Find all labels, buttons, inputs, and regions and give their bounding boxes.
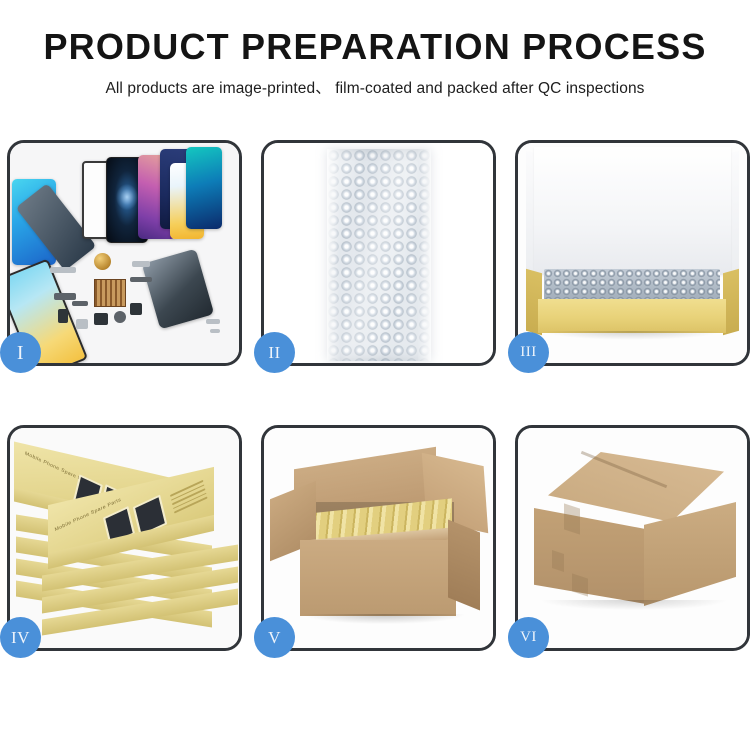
process-step-3: III	[515, 140, 750, 366]
carton-tape-icon	[564, 503, 580, 534]
process-step-4: Mobile Phone Spare Parts Mobile Phone Sp…	[7, 425, 242, 651]
header: PRODUCT PREPARATION PROCESS All products…	[0, 0, 750, 98]
repair-part-icon	[132, 261, 150, 267]
phone-back-housing-icon	[142, 249, 215, 330]
box-shadow	[542, 331, 722, 340]
step-2-image	[264, 143, 493, 363]
repair-part-icon	[130, 277, 152, 282]
carton-shadow	[542, 600, 726, 610]
repair-part-icon	[76, 319, 88, 329]
carton-left-panel	[534, 508, 646, 604]
product-preparation-infographic: PRODUCT PREPARATION PROCESS All products…	[0, 0, 750, 750]
repair-part-icon	[58, 309, 68, 323]
carton-shadow	[304, 614, 464, 624]
step-3-badge: III	[508, 332, 549, 373]
bubble-wrap-edge	[418, 149, 431, 361]
carton-tape-icon	[552, 550, 564, 572]
process-step-6: VI	[515, 425, 750, 651]
box-stack-icon: Mobile Phone Spare Parts Mobile Phone Sp…	[14, 446, 239, 636]
box-front-panel	[538, 299, 726, 333]
process-step-2: II	[261, 140, 496, 366]
step-2-badge: II	[254, 332, 295, 373]
speaker-module-icon	[94, 253, 111, 270]
repair-part-icon	[130, 303, 142, 315]
repair-part-icon	[50, 267, 76, 273]
step-1-image	[10, 143, 239, 363]
process-step-5: V	[261, 425, 496, 651]
screw-icon	[206, 319, 220, 324]
step-5-badge: V	[254, 617, 295, 658]
step-1-badge: I	[0, 332, 41, 373]
carton-front-panel	[300, 540, 456, 616]
process-step-1: I	[7, 140, 242, 366]
carton-tape-icon	[572, 573, 588, 596]
screw-icon	[210, 329, 220, 333]
carton-side-panel	[448, 520, 480, 611]
bubble-wrapped-contents-icon	[544, 269, 720, 303]
repair-part-icon	[54, 293, 76, 300]
step-6-badge: VI	[508, 617, 549, 658]
step-5-image	[264, 428, 493, 648]
process-step-grid: I II III	[7, 140, 745, 651]
step-4-image: Mobile Phone Spare Parts Mobile Phone Sp…	[10, 428, 239, 648]
step-4-badge: IV	[0, 617, 41, 658]
page-subtitle: All products are image-printed、 film-coa…	[0, 76, 750, 98]
bubble-wrap-edge	[327, 149, 340, 361]
bubble-wrap-icon	[327, 149, 431, 361]
step-3-image	[518, 143, 747, 363]
step-6-image	[518, 428, 747, 648]
box-lid-back	[534, 147, 731, 275]
page-title: PRODUCT PREPARATION PROCESS	[0, 26, 750, 67]
camera-module-icon	[114, 311, 126, 323]
phone-teal-screen-icon	[186, 147, 222, 229]
box-spec-lines	[170, 480, 208, 516]
repair-part-icon	[94, 313, 108, 325]
repair-part-icon	[72, 301, 88, 306]
circuit-chip-icon	[94, 279, 126, 307]
